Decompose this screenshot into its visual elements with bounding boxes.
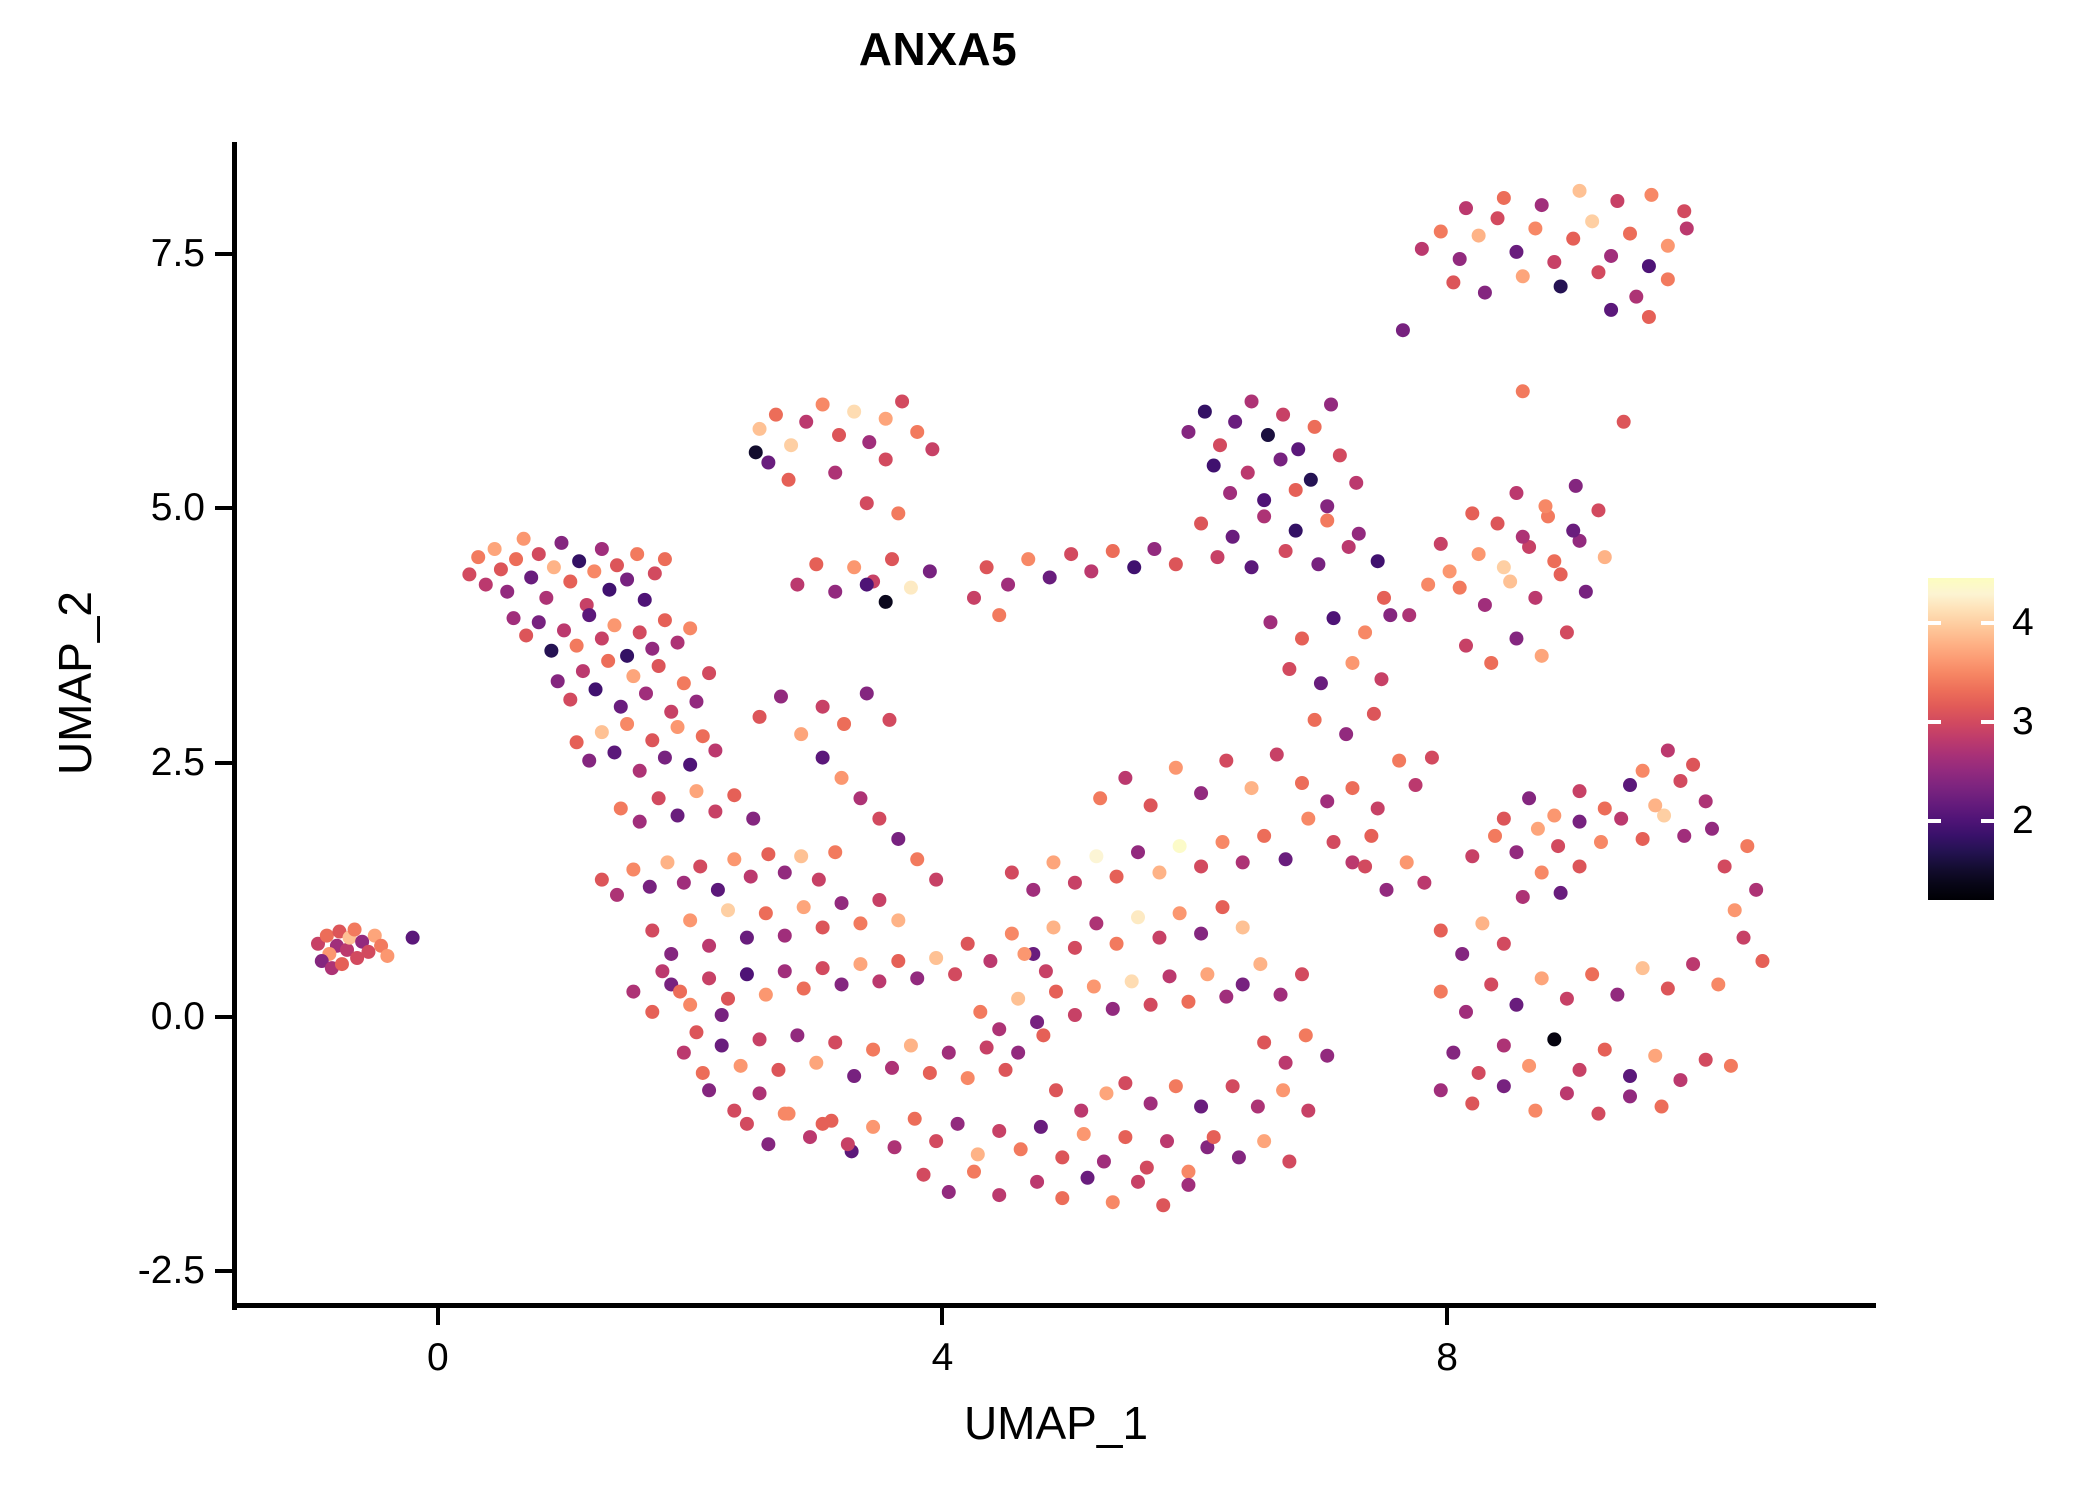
- scatter-point: [1245, 781, 1259, 795]
- scatter-point: [727, 852, 741, 866]
- scatter-point: [872, 812, 886, 826]
- scatter-point: [1021, 552, 1035, 566]
- scatter-point: [1560, 1086, 1574, 1100]
- scatter-point: [406, 931, 420, 945]
- y-tick-label: 7.5: [55, 234, 205, 273]
- scatter-point: [1106, 1195, 1120, 1209]
- scatter-point: [361, 945, 375, 959]
- scatter-point: [1711, 977, 1725, 991]
- scatter-point: [1484, 656, 1498, 670]
- scatter-point: [1686, 758, 1700, 772]
- scatter-point: [1434, 1083, 1448, 1097]
- scatter-point: [683, 621, 697, 635]
- scatter-point: [671, 809, 685, 823]
- scatter-point: [1644, 188, 1658, 202]
- scatter-point: [664, 705, 678, 719]
- scatter-point: [992, 1022, 1006, 1036]
- scatter-point: [1219, 990, 1233, 1004]
- scatter-point: [633, 764, 647, 778]
- scatter-point: [1503, 575, 1517, 589]
- scatter-point: [853, 791, 867, 805]
- scatter-point: [655, 964, 669, 978]
- scatter-point: [1573, 859, 1587, 873]
- colorbar-tick-mark: [1981, 621, 1994, 625]
- scatter-point: [1655, 1100, 1669, 1114]
- x-tick-label: 8: [1367, 1338, 1527, 1377]
- scatter-point: [866, 1043, 880, 1057]
- scatter-point: [1144, 998, 1158, 1012]
- scatter-point: [1400, 855, 1414, 869]
- scatter-point: [835, 896, 849, 910]
- scatter-point: [1030, 1175, 1044, 1189]
- scatter-point: [1516, 890, 1530, 904]
- scatter-point: [1459, 639, 1473, 653]
- scatter-point: [1579, 585, 1593, 599]
- scatter-point: [816, 751, 830, 765]
- scatter-point: [620, 717, 634, 731]
- scatter-point: [1181, 425, 1195, 439]
- scatter-point: [1087, 980, 1101, 994]
- scatter-point: [1560, 992, 1574, 1006]
- scatter-point: [677, 1046, 691, 1060]
- scatter-point: [1610, 988, 1624, 1002]
- scatter-point: [1623, 1069, 1637, 1083]
- scatter-point: [587, 564, 601, 578]
- scatter-point: [872, 974, 886, 988]
- scatter-point: [488, 542, 502, 556]
- scatter-point: [607, 618, 621, 632]
- scatter-point: [1604, 249, 1618, 263]
- scatter-point: [335, 957, 349, 971]
- scatter-point: [1417, 876, 1431, 890]
- scatter-point: [1049, 985, 1063, 999]
- scatter-point: [1342, 540, 1356, 554]
- scatter-point: [1636, 764, 1650, 778]
- scatter-point: [1152, 866, 1166, 880]
- scatter-point: [1324, 398, 1338, 412]
- scatter-point: [1173, 839, 1187, 853]
- scatter-point: [853, 957, 867, 971]
- scatter-point: [803, 1130, 817, 1144]
- scatter-point: [879, 452, 893, 466]
- scatter-point: [638, 593, 652, 607]
- scatter-point: [980, 1041, 994, 1055]
- scatter-point: [1434, 537, 1448, 551]
- scatter-point: [1585, 967, 1599, 981]
- colorbar-tick-label: 3: [2012, 702, 2100, 741]
- scatter-point: [1472, 547, 1486, 561]
- scatter-point: [582, 754, 596, 768]
- scatter-point: [1566, 524, 1580, 538]
- scatter-point: [794, 727, 808, 741]
- scatter-point: [1345, 656, 1359, 670]
- scatter-point: [790, 1028, 804, 1042]
- scatter-point: [782, 473, 796, 487]
- scatter-point: [1257, 493, 1271, 507]
- scatter-point: [828, 845, 842, 859]
- scatter-point: [1434, 924, 1448, 938]
- scatter-point: [595, 542, 609, 556]
- scatter-point: [671, 720, 685, 734]
- scatter-point: [1629, 290, 1643, 304]
- scatter-point: [1673, 1073, 1687, 1087]
- scatter-point: [1014, 1142, 1028, 1156]
- scatter-point: [1118, 771, 1132, 785]
- scatter-point: [1339, 727, 1353, 741]
- scatter-point: [689, 784, 703, 798]
- scatter-point: [557, 623, 571, 637]
- scatter-point: [904, 581, 918, 595]
- scatter-point: [904, 1039, 918, 1053]
- scatter-point: [1144, 1097, 1158, 1111]
- scatter-point: [999, 1063, 1013, 1077]
- scatter-point: [1207, 1130, 1221, 1144]
- scatter-point: [1147, 542, 1161, 556]
- scatter-point: [721, 992, 735, 1006]
- scatter-point: [908, 1112, 922, 1126]
- scatter-point: [778, 929, 792, 943]
- scatter-point: [1547, 255, 1561, 269]
- scatter-point: [837, 717, 851, 731]
- scatter-point: [847, 405, 861, 419]
- scatter-point: [895, 394, 909, 408]
- scatter-point: [1311, 557, 1325, 571]
- scatter-point: [1488, 829, 1502, 843]
- scatter-point: [1207, 459, 1221, 473]
- scatter-point: [1677, 204, 1691, 218]
- scatter-point: [784, 438, 798, 452]
- scatter-point: [1509, 245, 1523, 259]
- scatter-point: [1352, 527, 1366, 541]
- scatter-point: [809, 1056, 823, 1070]
- scatter-point: [519, 628, 533, 642]
- scatter-point: [1425, 751, 1439, 765]
- scatter-point: [1320, 514, 1334, 528]
- scatter-point: [1110, 937, 1124, 951]
- scatter-point: [1475, 916, 1489, 930]
- scatter-point: [1661, 272, 1675, 286]
- scatter-point: [1270, 748, 1284, 762]
- scatter-point: [1226, 1079, 1240, 1093]
- scatter-point: [885, 1061, 899, 1075]
- scatter-point: [1522, 791, 1536, 805]
- scatter-point: [1228, 415, 1242, 429]
- scatter-point: [1257, 509, 1271, 523]
- scatter-point: [835, 771, 849, 785]
- scatter-point: [1673, 774, 1687, 788]
- scatter-point: [643, 880, 657, 894]
- scatter-point: [1509, 845, 1523, 859]
- scatter-point: [1566, 232, 1580, 246]
- scatter-point: [671, 636, 685, 650]
- scatter-point: [1282, 1155, 1296, 1169]
- scatter-point: [380, 949, 394, 963]
- scatter-point: [1194, 859, 1208, 873]
- scatter-point: [1623, 778, 1637, 792]
- scatter-point: [1257, 829, 1271, 843]
- scatter-point: [1443, 564, 1457, 578]
- scatter-point: [1181, 1165, 1195, 1179]
- scatter-point: [1110, 870, 1124, 884]
- scatter-point: [1371, 801, 1385, 815]
- scatter-point: [1642, 310, 1656, 324]
- scatter-point: [696, 1066, 710, 1080]
- scatter-point: [734, 1059, 748, 1073]
- scatter-point: [866, 1120, 880, 1134]
- scatter-point: [816, 920, 830, 934]
- x-axis-line: [232, 1303, 1876, 1308]
- scatter-point: [917, 1168, 931, 1182]
- scatter-point: [1740, 839, 1754, 853]
- scatter-point: [494, 562, 508, 576]
- scatter-point: [1497, 560, 1511, 574]
- scatter-point: [1415, 242, 1429, 256]
- scatter-point: [1497, 1039, 1511, 1053]
- scatter-point: [607, 745, 621, 759]
- scatter-point: [1081, 1171, 1095, 1185]
- scatter-point: [1367, 707, 1381, 721]
- scatter-point: [778, 866, 792, 880]
- scatter-point: [923, 564, 937, 578]
- scatter-point: [1718, 859, 1732, 873]
- scatter-point: [1604, 303, 1618, 317]
- scatter-point: [1446, 1046, 1460, 1060]
- colorbar-tick-mark: [1928, 621, 1941, 625]
- scatter-point: [1140, 1161, 1154, 1175]
- scatter-point: [1274, 452, 1288, 466]
- scatter-point: [1591, 1107, 1605, 1121]
- scatter-point: [1039, 964, 1053, 978]
- scatter-point: [727, 1104, 741, 1118]
- scatter-point: [1194, 1100, 1208, 1114]
- scatter-point: [929, 873, 943, 887]
- scatter-point: [517, 532, 531, 546]
- scatter-point: [1320, 1049, 1334, 1063]
- scatter-point: [942, 1046, 956, 1060]
- scatter-point: [1049, 1083, 1063, 1097]
- colorbar-tick-label: 2: [2012, 801, 2100, 840]
- scatter-point: [1497, 937, 1511, 951]
- scatter-point: [740, 931, 754, 945]
- scatter-point: [891, 506, 905, 520]
- scatter-point: [1453, 252, 1467, 266]
- scatter-point: [727, 788, 741, 802]
- scatter-point: [1728, 903, 1742, 917]
- scatter-point: [570, 735, 584, 749]
- scatter-point: [1594, 835, 1608, 849]
- scatter-point: [971, 1147, 985, 1161]
- colorbar-tick-mark: [1981, 819, 1994, 823]
- scatter-point: [1055, 1191, 1069, 1205]
- scatter-point: [620, 573, 634, 587]
- scatter-point: [1301, 1104, 1315, 1118]
- scatter-point: [1320, 794, 1334, 808]
- scatter-point: [1131, 1175, 1145, 1189]
- scatter-point: [1453, 581, 1467, 595]
- scatter-point: [1169, 761, 1183, 775]
- colorbar-tick-mark: [1928, 819, 1941, 823]
- scatter-point: [1345, 781, 1359, 795]
- scatter-point: [1216, 835, 1230, 849]
- scatter-point: [658, 552, 672, 566]
- scatter-point: [1295, 967, 1309, 981]
- scatter-point: [1409, 778, 1423, 792]
- scatter-point: [740, 1117, 754, 1131]
- scatter-point: [1194, 517, 1208, 531]
- scatter-point: [664, 947, 678, 961]
- scatter-point: [1036, 1028, 1050, 1042]
- scatter-point: [673, 985, 687, 999]
- scatter-point: [1371, 554, 1385, 568]
- scatter-point: [1591, 265, 1605, 279]
- scatter-point: [1093, 791, 1107, 805]
- scatter-point: [1210, 550, 1224, 564]
- scatter-point: [753, 1032, 767, 1046]
- scatter-point: [1106, 544, 1120, 558]
- scatter-point: [885, 552, 899, 566]
- scatter-point: [1677, 829, 1691, 843]
- scatter-point: [696, 729, 710, 743]
- scatter-point: [1598, 550, 1612, 564]
- scatter-point: [320, 929, 334, 943]
- scatter-point: [1245, 394, 1259, 408]
- scatter-point: [1084, 564, 1098, 578]
- scatter-point: [828, 1035, 842, 1049]
- scatter-point: [951, 1117, 965, 1131]
- scatter-point: [639, 686, 653, 700]
- scatter-point: [1152, 931, 1166, 945]
- scatter-point: [1749, 883, 1763, 897]
- scatter-point: [595, 725, 609, 739]
- scatter-point: [563, 575, 577, 589]
- scatter-point: [1043, 570, 1057, 584]
- scatter-point: [633, 625, 647, 639]
- scatter-point: [1106, 1002, 1120, 1016]
- scatter-point: [992, 1188, 1006, 1202]
- scatter-point: [1144, 798, 1158, 812]
- scatter-point: [1068, 876, 1082, 890]
- scatter-point: [1236, 855, 1250, 869]
- scatter-point: [1648, 798, 1662, 812]
- scatter-point: [740, 967, 754, 981]
- scatter-point: [980, 560, 994, 574]
- scatter-point: [882, 713, 896, 727]
- scatter-point: [715, 1039, 729, 1053]
- scatter-point: [614, 801, 628, 815]
- scatter-point: [721, 903, 735, 917]
- scatter-point: [570, 639, 584, 653]
- scatter-point: [778, 1107, 792, 1121]
- scatter-point: [689, 695, 703, 709]
- scatter-point: [1569, 479, 1583, 493]
- scatter-point: [544, 644, 558, 658]
- scatter-point: [1623, 227, 1637, 241]
- scatter-point: [1535, 971, 1549, 985]
- scatter-point: [582, 608, 596, 622]
- scatter-point: [1223, 486, 1237, 500]
- scatter-point: [761, 1137, 775, 1151]
- scatter-point: [853, 916, 867, 930]
- scatter-point: [1304, 473, 1318, 487]
- scatter-point: [1279, 544, 1293, 558]
- scatter-point: [1005, 866, 1019, 880]
- scatter-point: [1005, 927, 1019, 941]
- scatter-point: [1274, 988, 1288, 1002]
- scatter-point: [572, 554, 586, 568]
- scatter-point: [689, 1025, 703, 1039]
- scatter-point: [1327, 611, 1341, 625]
- scatter-point: [1465, 849, 1479, 863]
- scatter-point: [812, 873, 826, 887]
- scatter-point: [1181, 995, 1195, 1009]
- scatter-point: [1077, 1127, 1091, 1141]
- scatter-point: [1001, 578, 1015, 592]
- scatter-point: [348, 923, 362, 937]
- scatter-point: [1345, 855, 1359, 869]
- scatter-point: [1169, 557, 1183, 571]
- scatter-point: [1472, 1066, 1486, 1080]
- scatter-point: [1680, 221, 1694, 235]
- scatter-point: [847, 560, 861, 574]
- scatter-point: [771, 1063, 785, 1077]
- scatter-point: [1617, 415, 1631, 429]
- colorbar-tick-mark: [1928, 720, 1941, 724]
- scatter-point: [1173, 906, 1187, 920]
- x-tick-label: 4: [862, 1338, 1022, 1377]
- scatter-point: [1591, 503, 1605, 517]
- y-axis-title: UMAP_2: [52, 303, 98, 1063]
- scatter-point: [1127, 560, 1141, 574]
- scatter-point: [1497, 191, 1511, 205]
- scatter-point: [1547, 554, 1561, 568]
- scatter-point: [1089, 916, 1103, 930]
- scatter-point: [645, 1005, 659, 1019]
- scatter-point: [509, 552, 523, 566]
- scatter-point: [1200, 967, 1214, 981]
- scatter-point: [816, 1117, 830, 1131]
- scatter-point: [1282, 662, 1296, 676]
- scatter-point: [677, 876, 691, 890]
- scatter-point: [462, 567, 476, 581]
- scatter-point: [652, 659, 666, 673]
- scatter-point: [1737, 931, 1751, 945]
- scatter-point: [1509, 998, 1523, 1012]
- scatter-point: [1308, 713, 1322, 727]
- scatter-point: [862, 435, 876, 449]
- scatter-point: [1459, 1005, 1473, 1019]
- scatter-point: [500, 585, 514, 599]
- scatter-point: [702, 666, 716, 680]
- scatter-point: [1551, 839, 1565, 853]
- scatter-point: [1030, 1015, 1044, 1029]
- scatter-point: [1064, 547, 1078, 561]
- scatter-point: [1509, 486, 1523, 500]
- scatter-point: [749, 445, 763, 459]
- scatter-point: [1699, 794, 1713, 808]
- scatter-point: [769, 408, 783, 422]
- scatter-point: [1705, 822, 1719, 836]
- scatter-point: [1026, 883, 1040, 897]
- scatter-point: [1531, 822, 1545, 836]
- scatter-point: [816, 398, 830, 412]
- scatter-point: [872, 893, 886, 907]
- scatter-point: [1648, 1049, 1662, 1063]
- scatter-points-layer: [236, 142, 1876, 1307]
- scatter-point: [1516, 530, 1530, 544]
- scatter-point: [1308, 420, 1322, 434]
- scatter-point: [925, 442, 939, 456]
- scatter-point: [648, 566, 662, 580]
